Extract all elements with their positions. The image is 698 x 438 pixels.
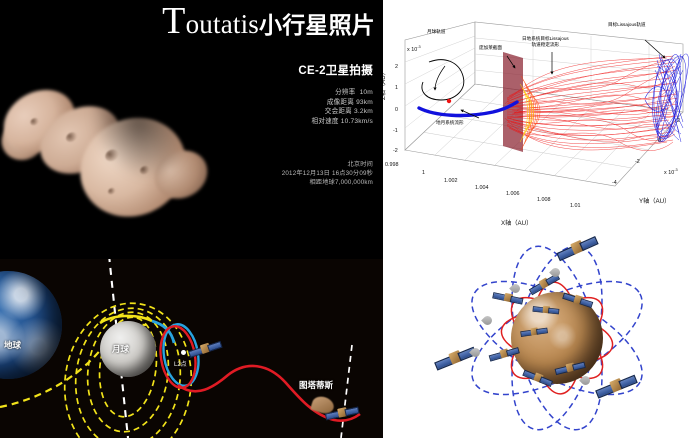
y-axis-name: Y轴（AU） [639, 196, 670, 205]
solar-panel-icon [344, 407, 359, 417]
spec-label: 分辨率 [335, 89, 355, 96]
spec-value: 3.2km [354, 108, 373, 115]
annotation-moon-orbit: 月球轨道 [427, 29, 445, 35]
distance-value: 相距地球7,000,000km [282, 178, 373, 187]
figure-sheet: Toutatis小行星照片 CE-2卫星拍摄 分辨率 10m 成像距离 93km… [0, 0, 698, 438]
spec-row: 分辨率 10m [312, 88, 373, 98]
z-axis-exponent: x 10-3 [407, 45, 421, 53]
spec-label: 交会距离 [325, 108, 352, 115]
panel-asteroid-photo: Toutatis小行星照片 CE-2卫星拍摄 分辨率 10m 成像距离 93km… [0, 0, 383, 259]
label-toutatis: 图塔蒂斯 [299, 379, 333, 391]
annotation-earth-moon-manifold: 地月系统流形 [436, 120, 464, 126]
spec-row: 成像距离 93km [312, 98, 373, 108]
title-latin-rest: outatis [186, 9, 259, 39]
annotation-line-2: 轨道稳定流形 [522, 42, 569, 48]
x-tick: 1.004 [475, 185, 489, 191]
y-tick: -2 [635, 159, 640, 165]
timestamp-value: 2012年12月13日 16点30分09秒 [282, 169, 373, 178]
x-tick: 1.006 [506, 191, 520, 197]
annotation-sun-earth-stable-manifold: 日地系统目标Lissajous 轨道稳定流形 [522, 36, 569, 47]
spec-row: 相对速度 10.73km/s [312, 117, 373, 127]
spec-row: 交会距离 3.2km [312, 107, 373, 117]
panel-subtitle: CE-2卫星拍摄 [298, 62, 373, 78]
spec-value: 93km [356, 99, 373, 106]
z-axis-name: Z轴（AU） [383, 69, 387, 100]
y-tick: -4 [612, 180, 617, 186]
z-tick: -1 [393, 128, 398, 134]
spec-value: 10.73km/s [341, 118, 373, 125]
z-tick: -2 [393, 148, 398, 154]
x-tick: 1 [422, 170, 425, 176]
panel-manifold-3d-plot: 月球轨道 地月系统流形 庞加莱截面 日地系统目标Lissajous 轨道稳定流形… [383, 0, 698, 230]
z-tick: 1 [395, 85, 398, 91]
z-tick: 0 [395, 107, 398, 113]
spec-list: 分辨率 10m 成像距离 93km 交会距离 3.2km 相对速度 10.73k… [312, 88, 373, 126]
x-axis-name: X轴（AU） [501, 218, 532, 227]
annotation-poincare-section: 庞加莱截面 [479, 45, 502, 51]
label-earth: 地球 [4, 339, 21, 351]
x-tick: 1.002 [444, 178, 458, 184]
spec-value: 10m [360, 89, 373, 96]
spec-label: 成像距离 [327, 99, 354, 106]
timestamp-block: 北京时间 2012年12月13日 16点30分09秒 相距地球7,000,000… [282, 160, 373, 187]
panel-earth-moon-transfer: 地球 月球 L2点 图塔蒂斯 [0, 259, 383, 438]
asteroid-toutatis-image [0, 25, 233, 259]
y-tick: 2 [677, 118, 680, 124]
spec-label: 相对速度 [312, 118, 339, 125]
l2-point-marker [181, 350, 186, 355]
label-moon: 月球 [112, 343, 129, 355]
panel-mars-constellation [383, 230, 698, 438]
z-tick: 2 [395, 64, 398, 70]
y-axis-exponent: x 10-3 [664, 168, 678, 176]
target-axis-dashed-line [341, 345, 352, 438]
x-tick: 1.01 [570, 203, 581, 209]
departure-point-marker [447, 99, 451, 103]
x-tick: 0.998 [385, 162, 399, 168]
x-tick: 1.008 [537, 197, 551, 203]
label-l2: L2点 [174, 359, 187, 368]
annotation-line-1: 日地系统目标Lissajous [522, 36, 569, 42]
title-chinese: 小行星照片 [259, 13, 375, 39]
panel-title: Toutatis小行星照片 [162, 4, 375, 40]
timestamp-label: 北京时间 [282, 160, 373, 169]
y-tick: 0 [658, 138, 661, 144]
title-capital: T [162, 0, 185, 42]
annotation-target-lissajous-orbit: 目标Lissajous轨道 [608, 22, 646, 28]
